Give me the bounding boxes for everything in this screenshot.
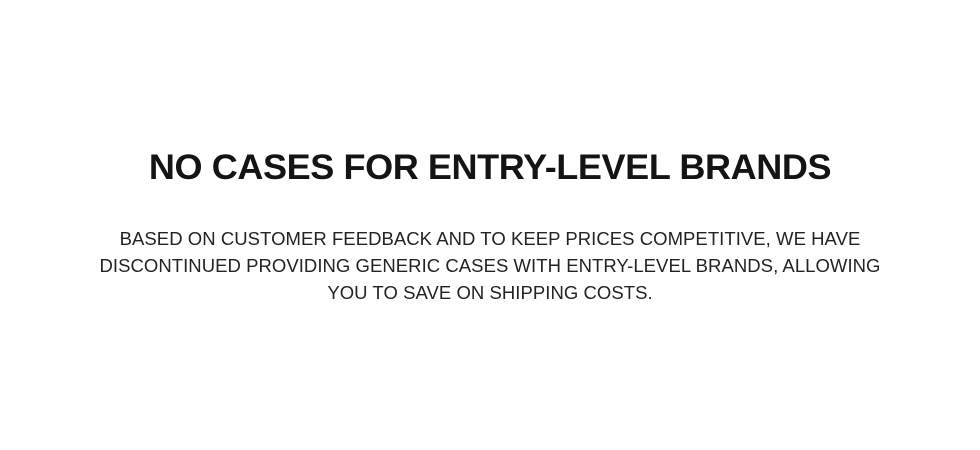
promo-banner: NO CASES FOR ENTRY-LEVEL BRANDS BASED ON… [0,0,980,450]
promo-body-text: BASED ON CUSTOMER FEEDBACK AND TO KEEP P… [90,225,890,306]
heading-body-spacer [0,186,980,225]
promo-heading: NO CASES FOR ENTRY-LEVEL BRANDS [0,150,980,186]
promo-content: NO CASES FOR ENTRY-LEVEL BRANDS BASED ON… [0,0,980,306]
